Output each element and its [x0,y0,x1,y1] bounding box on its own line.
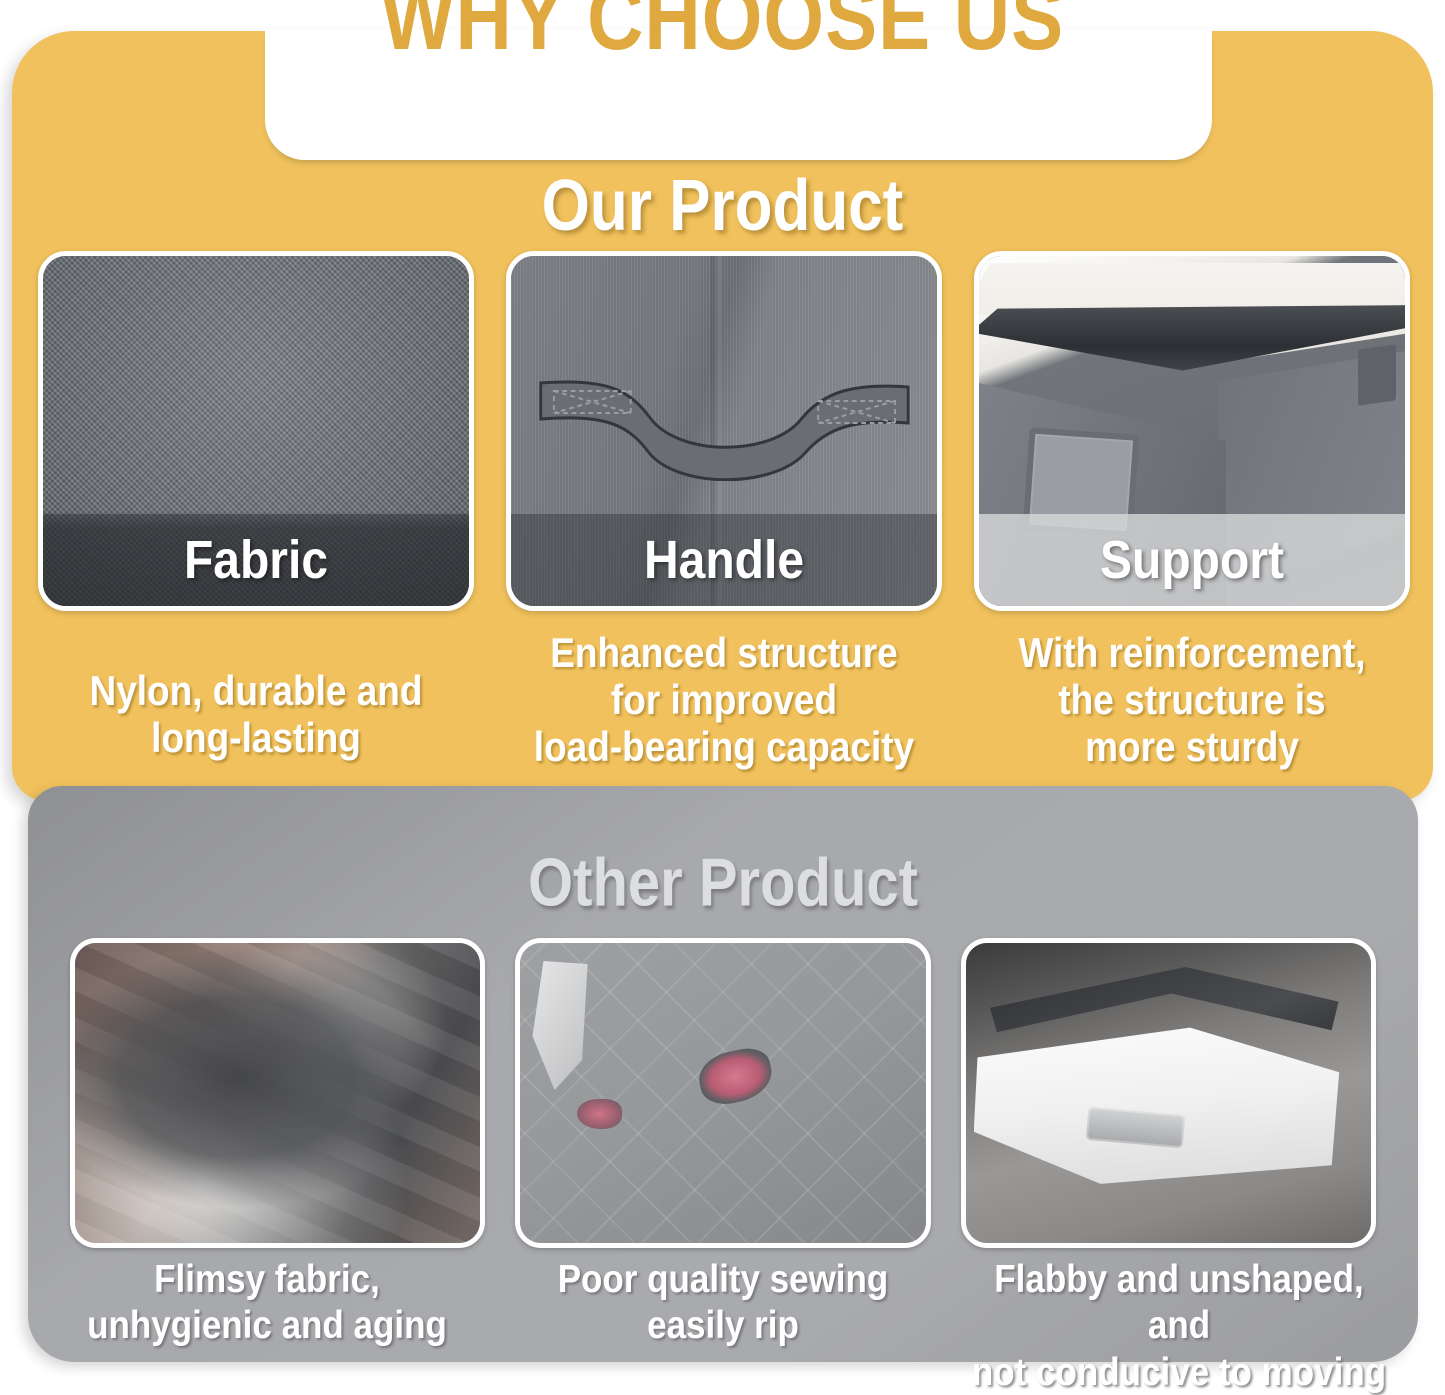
our-product-card-row: Fabric [38,251,1410,611]
support-badge-label: Support [1100,529,1284,591]
our-product-card-support[interactable]: Support [974,251,1410,611]
ripped-sewing-photo [520,943,925,1243]
infographic-root: Our Product Fabric [0,0,1445,1373]
other-product-caption-row: Flimsy fabric,unhygienic and aging Poor … [52,1262,1394,1362]
our-product-caption-support: With reinforcement,the structure ismore … [974,630,1410,798]
other-product-title: Other Product [28,844,1418,922]
fabric-badge-band: Fabric [43,514,469,606]
handle-strap [537,361,912,481]
handle-badge-band: Handle [511,514,937,606]
flabby-bag-body [974,1009,1347,1195]
page-title: WHY CHOOSE US [0,0,1445,71]
other-product-panel: Other Product Flimsy [28,786,1418,1362]
other-product-caption-flabby: Flabby and unshaped, andnot conducive to… [964,1256,1394,1368]
our-product-caption-fabric: Nylon, durable andlong-lasting [38,630,474,798]
rip-hole-large [694,1044,776,1109]
our-product-card-handle[interactable]: Handle [506,251,942,611]
our-product-title: Our Product [12,165,1433,247]
other-product-caption-ripped: Poor quality sewingeasily rip [508,1256,938,1368]
other-product-caption-flimsy: Flimsy fabric,unhygienic and aging [52,1256,482,1368]
our-product-caption-row: Nylon, durable andlong-lasting Enhanced … [38,639,1410,789]
other-product-card-flabby[interactable] [961,938,1376,1248]
other-product-card-flimsy[interactable] [70,938,485,1248]
support-badge-band: Support [979,514,1405,606]
support-side-handle [1358,344,1396,405]
torn-strap [532,961,670,1111]
other-product-card-ripped[interactable] [515,938,930,1248]
our-product-panel: Our Product Fabric [12,31,1433,801]
flimsy-fabric-photo [75,943,480,1243]
rip-hole-small [577,1099,622,1129]
handle-badge-label: Handle [644,529,804,591]
our-product-caption-handle: Enhanced structurefor improvedload-beari… [506,630,942,798]
flabby-bag-photo [966,943,1371,1243]
our-product-card-fabric[interactable]: Fabric [38,251,474,611]
fabric-badge-label: Fabric [184,529,328,591]
other-product-card-row [70,938,1376,1248]
